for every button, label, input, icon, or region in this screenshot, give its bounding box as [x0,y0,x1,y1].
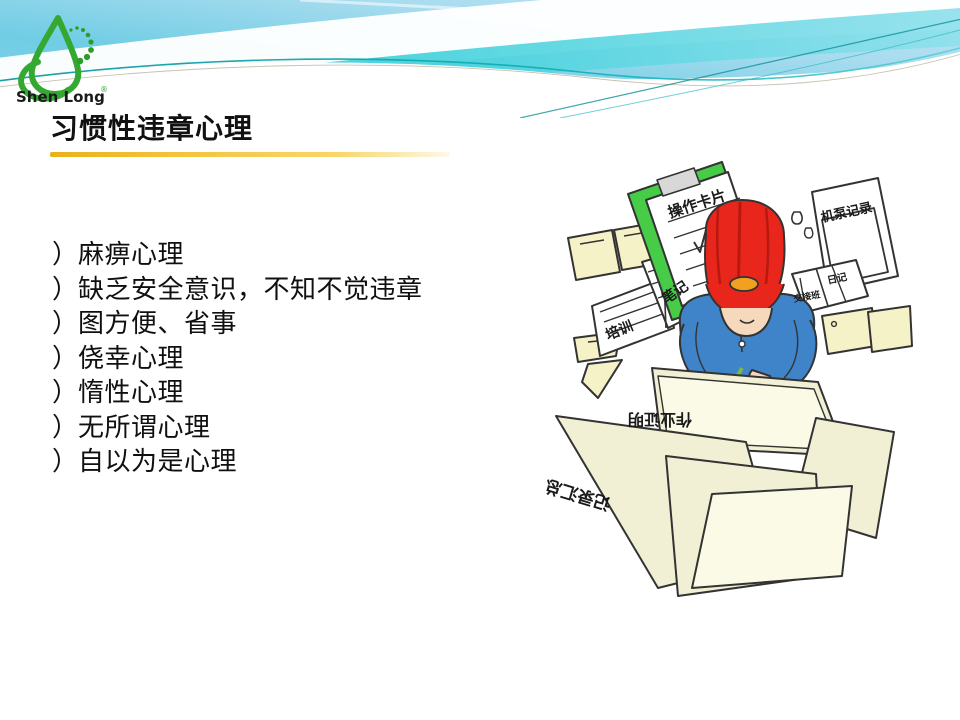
title-underline-rule [50,152,450,157]
bullet-marker-icon: ） [52,273,78,308]
list-item: ） 无所谓心理 [52,411,522,446]
bullet-marker-icon: ） [52,376,78,411]
list-item-label: 麻痹心理 [78,238,184,273]
page-title: 习惯性违章心理 [50,113,480,145]
bullet-marker-icon: ） [52,411,78,446]
list-item: ） 自以为是心理 [52,445,522,480]
list-item: ） 麻痹心理 [52,238,522,273]
list-item-label: 自以为是心理 [78,445,237,480]
desk-sheet-front [692,486,852,588]
wave-banner [0,0,960,118]
paper-tag-right-lower [868,306,912,352]
logo-wordmark: Shen Long [16,88,105,106]
page-title-block: 习惯性违章心理 [50,113,480,157]
list-item-label: 侥幸心理 [78,342,184,377]
list-item-label: 惰性心理 [78,376,184,411]
list-item-label: 缺乏安全意识，不知不觉违章 [78,273,423,308]
bullet-marker-icon: ） [52,307,78,342]
list-item: ） 侥幸心理 [52,342,522,377]
list-item: ） 缺乏安全意识，不知不觉违章 [52,273,522,308]
shen-long-logo: Shen Long ® [14,12,118,106]
logo-registered-mark: ® [100,85,108,94]
slide-canvas: Shen Long ® 习惯性违章心理 ） 麻痹心理 ） 缺乏安全意识，不知不觉… [0,0,960,720]
bullet-marker-icon: ） [52,342,78,377]
illustration-worker-filling-records: 操作卡片 机泵记录 培训 笔记 交接班 日记 作业证明 记录汇总 [516,156,954,614]
list-item-label: 图方便、省事 [78,307,237,342]
bullet-marker-icon: ） [52,238,78,273]
worksheet-label: 作业证明 [628,410,692,429]
list-item-label: 无所谓心理 [78,411,211,446]
bullet-list: ） 麻痹心理 ） 缺乏安全意识，不知不觉违章 ） 图方便、省事 ） 侥幸心理 ）… [52,238,522,480]
worker-red-helmet [705,200,784,316]
bullet-marker-icon: ） [52,445,78,480]
list-item: ） 惰性心理 [52,376,522,411]
list-item: ） 图方便、省事 [52,307,522,342]
paper-tag-left-top [568,230,620,280]
